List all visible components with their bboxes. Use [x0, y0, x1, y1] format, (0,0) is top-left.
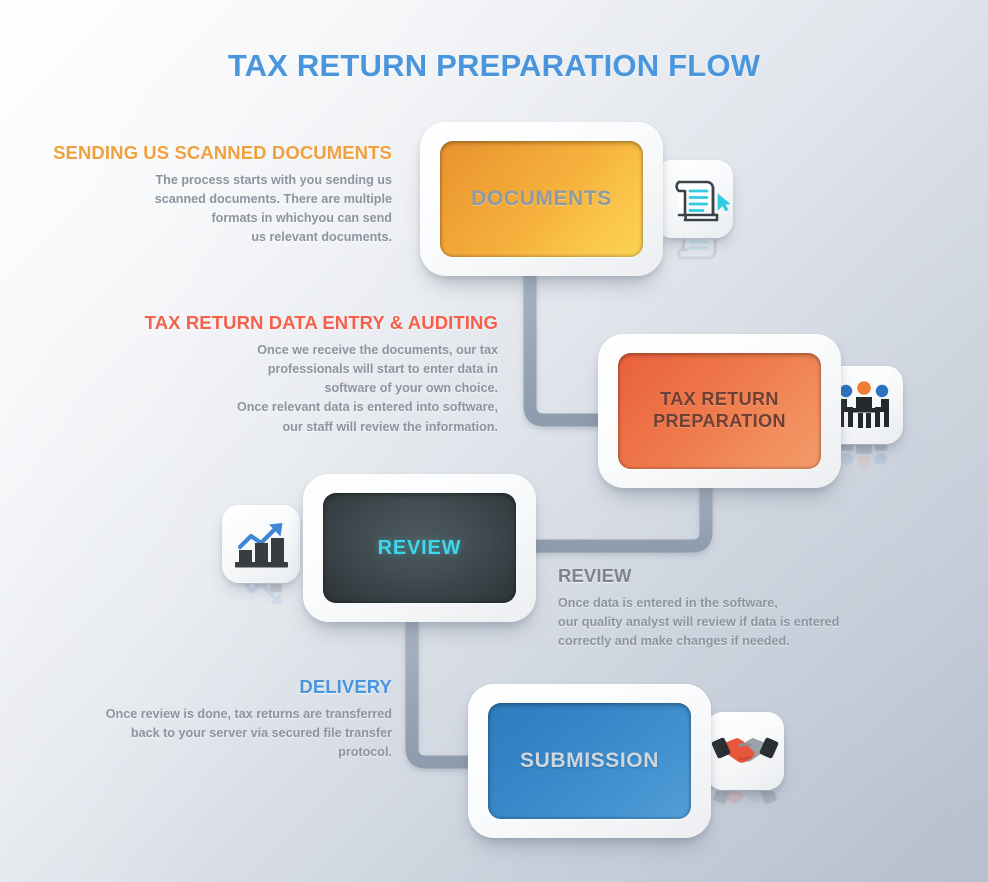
- document-scroll-icon-tile[interactable]: [655, 160, 733, 238]
- card-review[interactable]: REVIEW: [303, 474, 536, 622]
- card-label-preparation-line2: PREPARATION: [653, 411, 786, 433]
- section-body-line: our staff will review the information.: [98, 418, 498, 437]
- section-body-line: our quality analyst will review if data …: [558, 613, 858, 632]
- card-bezel: REVIEW: [303, 474, 536, 622]
- section-body-review: Once data is entered in the software, ou…: [558, 594, 858, 651]
- card-label-review: REVIEW: [378, 536, 462, 560]
- section-delivery: DELIVERY Once review is done, tax return…: [88, 676, 392, 762]
- card-screen: DOCUMENTS: [440, 141, 643, 257]
- section-body-line: formats in whichyou can send: [28, 209, 392, 228]
- section-body-line: The process starts with you sending us: [28, 171, 392, 190]
- section-body-line: scanned documents. There are multiple: [28, 190, 392, 209]
- handshake-icon: [706, 712, 784, 790]
- infographic-canvas: TAX RETURN PREPARATION FLOW: [0, 0, 988, 882]
- growth-chart-icon-tile[interactable]: [222, 505, 300, 583]
- section-heading-review: REVIEW: [558, 565, 858, 587]
- card-bezel: TAX RETURN PREPARATION: [598, 334, 841, 488]
- document-scroll-icon: [655, 160, 733, 238]
- card-label-preparation-line1: TAX RETURN: [653, 389, 786, 411]
- growth-chart-icon: [222, 505, 300, 583]
- section-body-line: software of your own choice.: [98, 379, 498, 398]
- section-body-line: Once we receive the documents, our tax: [98, 341, 498, 360]
- document-scroll-icon-reflection: [655, 239, 733, 279]
- growth-chart-icon-reflection: [222, 584, 300, 624]
- section-heading-auditing: TAX RETURN DATA ENTRY & AUDITING: [98, 312, 498, 334]
- card-preparation[interactable]: TAX RETURN PREPARATION: [598, 334, 841, 488]
- section-body-line: professionals will start to enter data i…: [98, 360, 498, 379]
- section-body-line: Once relevant data is entered into softw…: [98, 398, 498, 417]
- card-screen: TAX RETURN PREPARATION: [618, 353, 821, 469]
- section-auditing: TAX RETURN DATA ENTRY & AUDITING Once we…: [98, 312, 498, 437]
- section-body-auditing: Once we receive the documents, our tax p…: [98, 341, 498, 437]
- card-screen: SUBMISSION: [488, 703, 691, 819]
- section-body-line: Once data is entered in the software,: [558, 594, 858, 613]
- section-body-line: correctly and make changes if needed.: [558, 632, 858, 651]
- section-body-line: back to your server via secured file tra…: [88, 724, 392, 762]
- section-heading-delivery: DELIVERY: [88, 676, 392, 698]
- section-body-delivery: Once review is done, tax returns are tra…: [88, 705, 392, 762]
- connector-preparation-to-review: [512, 482, 706, 546]
- handshake-icon-reflection: [706, 791, 784, 831]
- card-label-submission: SUBMISSION: [520, 748, 659, 774]
- section-body-line: Once review is done, tax returns are tra…: [88, 705, 392, 724]
- page-title: TAX RETURN PREPARATION FLOW: [0, 48, 988, 84]
- card-label-documents: DOCUMENTS: [471, 186, 612, 212]
- section-heading-documents: SENDING US SCANNED DOCUMENTS: [28, 142, 392, 164]
- connector-documents-to-preparation: [530, 270, 604, 420]
- card-bezel: DOCUMENTS: [420, 122, 663, 276]
- card-submission[interactable]: SUBMISSION: [468, 684, 711, 838]
- section-body-line: us relevant documents.: [28, 228, 392, 247]
- section-documents: SENDING US SCANNED DOCUMENTS The process…: [28, 142, 392, 248]
- section-review: REVIEW Once data is entered in the softw…: [558, 565, 858, 651]
- card-documents[interactable]: DOCUMENTS: [420, 122, 663, 276]
- handshake-icon-tile[interactable]: [706, 712, 784, 790]
- section-body-documents: The process starts with you sending us s…: [28, 171, 392, 248]
- card-screen: REVIEW: [323, 493, 516, 603]
- card-bezel: SUBMISSION: [468, 684, 711, 838]
